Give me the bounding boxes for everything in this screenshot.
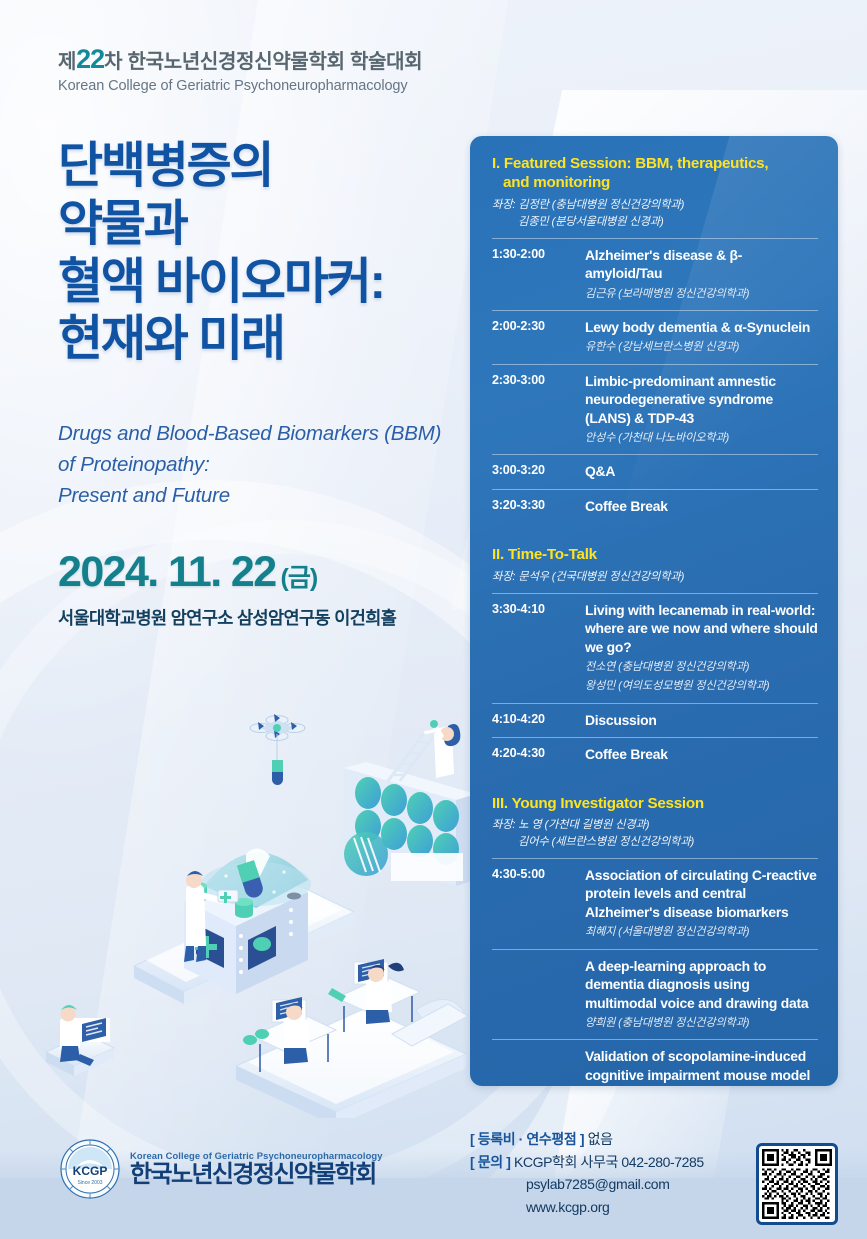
program-row-time: 3:00-3:20 bbox=[492, 462, 585, 480]
program-row-title: Q&A bbox=[585, 462, 818, 480]
poster-header: 제22차 한국노년신경정신약물학회 학술대회 Korean College of… bbox=[58, 44, 422, 94]
program-row-body: Living with lecanemab in real-world: whe… bbox=[585, 601, 818, 695]
qr-code[interactable] bbox=[756, 1143, 838, 1225]
section-gap bbox=[492, 772, 818, 794]
contact-email[interactable]: psylab7285@gmail.com bbox=[470, 1173, 770, 1196]
program-row-time: 3:20-3:30 bbox=[492, 497, 585, 515]
title-line-4: 현재와 미래 bbox=[58, 311, 458, 369]
program-rows: 1:30-2:00Alzheimer's disease & β-amyloid… bbox=[492, 238, 818, 524]
society-name-english: Korean College of Geriatric Psychoneurop… bbox=[130, 1150, 383, 1161]
program-row-body: Validation of scopolamine-induced cognit… bbox=[585, 1047, 818, 1086]
program-row: 3:00-3:20Q&A bbox=[492, 454, 818, 488]
program-row: 4:30-5:00Association of circulating C-re… bbox=[492, 858, 818, 949]
program-row-title: Validation of scopolamine-induced cognit… bbox=[585, 1047, 818, 1086]
program-row: Validation of scopolamine-induced cognit… bbox=[492, 1039, 818, 1086]
worker-bottom-left-graphic bbox=[46, 1005, 114, 1076]
program-row-title: Living with lecanemab in real-world: whe… bbox=[585, 601, 818, 656]
date-venue-block: 2024. 11. 22(금) 서울대학교병원 암연구소 삼성암연구동 이건희홀 bbox=[58, 548, 396, 630]
program-row-body: Association of circulating C-reactive pr… bbox=[585, 866, 818, 941]
society-logo-text: Korean College of Geriatric Psychoneurop… bbox=[130, 1150, 383, 1188]
session-chair: 김종민 (분당서울대병원 신경과) bbox=[492, 214, 818, 231]
program-row-title: Alzheimer's disease & β-amyloid/Tau bbox=[585, 246, 818, 283]
isometric-lab-illustration bbox=[36, 648, 486, 1118]
session-chair: 좌장: 문석우 (건국대병원 정신건강의학과) bbox=[492, 569, 818, 586]
program-row-time: 2:00-2:30 bbox=[492, 318, 585, 356]
program-row: 4:20-4:30Coffee Break bbox=[492, 737, 818, 771]
program-row: A deep-learning approach to dementia dia… bbox=[492, 949, 818, 1040]
edition-prefix: 제 bbox=[58, 51, 76, 73]
program-row-body: Coffee Break bbox=[585, 497, 818, 515]
program-row-time: 4:10-4:20 bbox=[492, 711, 585, 729]
contact-value: KCGP학회 사무국 042-280-7285 bbox=[514, 1154, 704, 1170]
session-chair-block: 좌장: 노 영 (가천대 길병원 신경과)김어수 (세브란스병원 정신건강의학과… bbox=[492, 817, 818, 851]
section-gap bbox=[492, 523, 818, 545]
title-line-3: 혈액 바이오마커: bbox=[58, 254, 458, 312]
edition-suffix: 차 한국노년신경정신약물학회 학술대회 bbox=[104, 51, 422, 73]
program-row-body: Limbic-predominant amnestic neurodegener… bbox=[585, 372, 818, 447]
program-section-title: III. Young Investigator Session bbox=[492, 794, 818, 813]
event-weekday: (금) bbox=[281, 558, 318, 594]
session-chair: 좌장: 김정란 (충남대병원 정신건강의학과) bbox=[492, 197, 818, 214]
contact-row: [ 문의 ] KCGP학회 사무국 042-280-7285 bbox=[470, 1151, 770, 1174]
program-row: 2:00-2:30Lewy body dementia & α-Synuclei… bbox=[492, 310, 818, 364]
subtitle-line-1: Drugs and Blood-Based Biomarkers (BBM) bbox=[58, 418, 478, 449]
chair-label: 좌장: bbox=[492, 571, 518, 583]
session-chair: 김어수 (세브란스병원 정신건강의학과) bbox=[492, 834, 818, 851]
registration-fee-row: [ 등록비 · 연수평점 ] 없음 bbox=[470, 1128, 770, 1151]
program-row-body: Lewy body dementia & α-Synuclein유한수 (강남세… bbox=[585, 318, 818, 356]
program-row: 3:30-4:10Living with lecanemab in real-w… bbox=[492, 593, 818, 703]
chair-name: 문석우 (건국대병원 정신건강의학과) bbox=[518, 571, 684, 583]
event-venue: 서울대학교병원 암연구소 삼성암연구동 이건희홀 bbox=[58, 605, 396, 630]
program-row-speaker: 김근유 (보라매병원 정신건강의학과) bbox=[585, 286, 818, 302]
session-chair-block: 좌장: 김정란 (충남대병원 정신건강의학과)김종민 (분당서울대병원 신경과) bbox=[492, 197, 818, 231]
contact-label: [ 문의 ] bbox=[470, 1154, 510, 1170]
program-row-title: Lewy body dementia & α-Synuclein bbox=[585, 318, 818, 336]
program-row-body: A deep-learning approach to dementia dia… bbox=[585, 957, 818, 1032]
program-row-title: Coffee Break bbox=[585, 745, 818, 763]
program-row-title: Coffee Break bbox=[585, 497, 818, 515]
title-line-2: 약물과 bbox=[58, 196, 458, 254]
program-row-speaker: 왕성민 (여의도성모병원 정신건강의학과) bbox=[585, 678, 818, 694]
edition-number: 22 bbox=[76, 44, 104, 74]
program-row-speaker: 전소연 (충남대병원 정신건강의학과) bbox=[585, 659, 818, 675]
program-row-title: Association of circulating C-reactive pr… bbox=[585, 866, 818, 921]
conference-edition-line: 제22차 한국노년신경정신약물학회 학술대회 bbox=[58, 44, 422, 75]
event-date: 2024. 11. 22 bbox=[58, 548, 276, 597]
program-rows: 3:30-4:10Living with lecanemab in real-w… bbox=[492, 593, 818, 772]
program-row-body: Q&A bbox=[585, 462, 818, 480]
pill-rack-graphic bbox=[344, 720, 476, 886]
qr-code-image bbox=[762, 1149, 832, 1219]
workstation-cluster-graphic bbox=[236, 959, 468, 1118]
chair-name: 노 영 (가천대 길병원 신경과) bbox=[518, 819, 649, 831]
footer-contact-block: [ 등록비 · 연수평점 ] 없음 [ 문의 ] KCGP학회 사무국 042-… bbox=[470, 1128, 770, 1219]
subtitle-line-3: Present and Future bbox=[58, 480, 478, 511]
program-row-body: Alzheimer's disease & β-amyloid/Tau김근유 (… bbox=[585, 246, 818, 302]
chair-name: 김정란 (충남대병원 정신건강의학과) bbox=[518, 199, 684, 211]
program-row-time: 4:30-5:00 bbox=[492, 866, 585, 941]
poster-root: 제22차 한국노년신경정신약물학회 학술대회 Korean College of… bbox=[0, 0, 867, 1239]
program-row-title: Discussion bbox=[585, 711, 818, 729]
program-content: I. Featured Session: BBM, therapeutics,a… bbox=[470, 136, 838, 1086]
society-name-korean: 한국노년신경정신약물학회 bbox=[130, 1162, 383, 1188]
program-row-time bbox=[492, 957, 585, 1032]
program-schedule-panel: I. Featured Session: BBM, therapeutics,a… bbox=[470, 136, 838, 1086]
session-chair: 좌장: 노 영 (가천대 길병원 신경과) bbox=[492, 817, 818, 834]
program-row-time: 4:20-4:30 bbox=[492, 745, 585, 763]
section-title-line-1: I. Featured Session: BBM, therapeutics, bbox=[492, 155, 768, 172]
program-row: 3:20-3:30Coffee Break bbox=[492, 489, 818, 523]
event-date-row: 2024. 11. 22(금) bbox=[58, 548, 396, 597]
chair-label: 좌장: bbox=[492, 819, 518, 831]
program-row-speaker: 안성수 (가천대 나노바이오학과) bbox=[585, 430, 818, 446]
poster-title: 단백병증의 약물과 혈액 바이오마커: 현재와 미래 bbox=[58, 138, 458, 369]
program-row-time: 2:30-3:00 bbox=[492, 372, 585, 447]
program-row: 1:30-2:00Alzheimer's disease & β-amyloid… bbox=[492, 238, 818, 310]
section-title-line-1: II. Time-To-Talk bbox=[492, 546, 597, 563]
program-row-time: 3:30-4:10 bbox=[492, 601, 585, 695]
svg-text:KCGP: KCGP bbox=[73, 1164, 108, 1178]
registration-fee-label: [ 등록비 · 연수평점 ] bbox=[470, 1131, 584, 1147]
poster-subtitle: Drugs and Blood-Based Biomarkers (BBM) o… bbox=[58, 418, 478, 511]
subtitle-line-2: of Proteinopathy: bbox=[58, 449, 478, 480]
section-title-line-2: and monitoring bbox=[492, 173, 818, 192]
program-row-speaker: 양희원 (충남대병원 정신건강의학과) bbox=[585, 1015, 818, 1031]
title-line-1: 단백병증의 bbox=[58, 138, 458, 196]
program-row: 4:10-4:20Discussion bbox=[492, 703, 818, 737]
central-machine-graphic bbox=[184, 848, 311, 994]
program-row-speaker: 최혜지 (서울대병원 정신건강의학과) bbox=[585, 924, 818, 940]
program-rows: 4:30-5:00Association of circulating C-re… bbox=[492, 858, 818, 1086]
program-row-body: Coffee Break bbox=[585, 745, 818, 763]
contact-website[interactable]: www.kcgp.org bbox=[470, 1196, 770, 1219]
drone-graphic bbox=[250, 714, 305, 785]
section-title-line-1: III. Young Investigator Session bbox=[492, 795, 704, 812]
registration-fee-value: 없음 bbox=[588, 1131, 613, 1147]
program-row-body: Discussion bbox=[585, 711, 818, 729]
program-row-time bbox=[492, 1047, 585, 1086]
society-logo: KCGP Since 2003 Korean College of Geriat… bbox=[60, 1139, 383, 1199]
program-row-title: A deep-learning approach to dementia dia… bbox=[585, 957, 818, 1012]
program-section-title: II. Time-To-Talk bbox=[492, 545, 818, 564]
organization-english-name: Korean College of Geriatric Psychoneurop… bbox=[58, 78, 422, 94]
kcgp-emblem-icon: KCGP Since 2003 bbox=[60, 1139, 120, 1199]
program-row: 2:30-3:00Limbic-predominant amnestic neu… bbox=[492, 364, 818, 455]
session-chair-block: 좌장: 문석우 (건국대병원 정신건강의학과) bbox=[492, 569, 818, 586]
program-section-title: I. Featured Session: BBM, therapeutics,a… bbox=[492, 154, 818, 193]
chair-label: 좌장: bbox=[492, 199, 518, 211]
program-row-speaker: 유한수 (강남세브란스병원 신경과) bbox=[585, 339, 818, 355]
program-row-time: 1:30-2:00 bbox=[492, 246, 585, 302]
svg-text:Since 2003: Since 2003 bbox=[77, 1180, 102, 1186]
program-row-title: Limbic-predominant amnestic neurodegener… bbox=[585, 372, 818, 427]
